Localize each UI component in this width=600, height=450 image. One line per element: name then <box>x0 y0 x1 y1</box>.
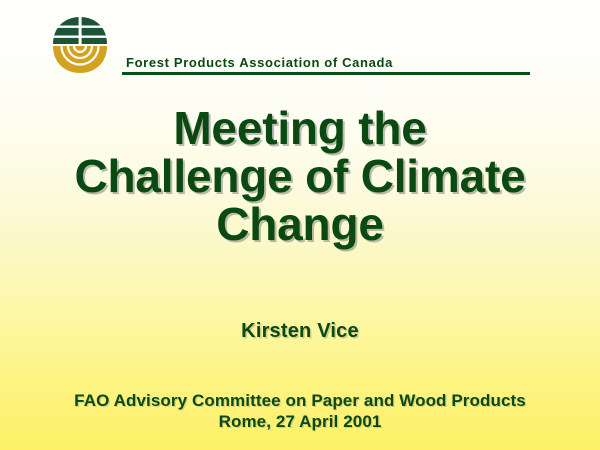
slide-header: Forest Products Association of Canada <box>0 0 600 92</box>
footer-location-date-line: Rome, 27 April 2001 <box>0 411 600 432</box>
organization-name: Forest Products Association of Canada <box>126 55 393 71</box>
presenter-name: Kirsten Vice <box>0 320 600 343</box>
title-line-3: Change <box>0 200 600 248</box>
title-line-2: Challenge of Climate <box>0 152 600 200</box>
footer-event-line: FAO Advisory Committee on Paper and Wood… <box>0 390 600 411</box>
slide-title: Meeting the Challenge of Climate Change <box>0 104 600 248</box>
header-divider-rule <box>122 72 530 75</box>
title-slide: Forest Products Association of Canada Me… <box>0 0 600 450</box>
fpac-logo-icon <box>52 16 108 74</box>
slide-footer: FAO Advisory Committee on Paper and Wood… <box>0 390 600 432</box>
title-line-1: Meeting the <box>0 104 600 152</box>
